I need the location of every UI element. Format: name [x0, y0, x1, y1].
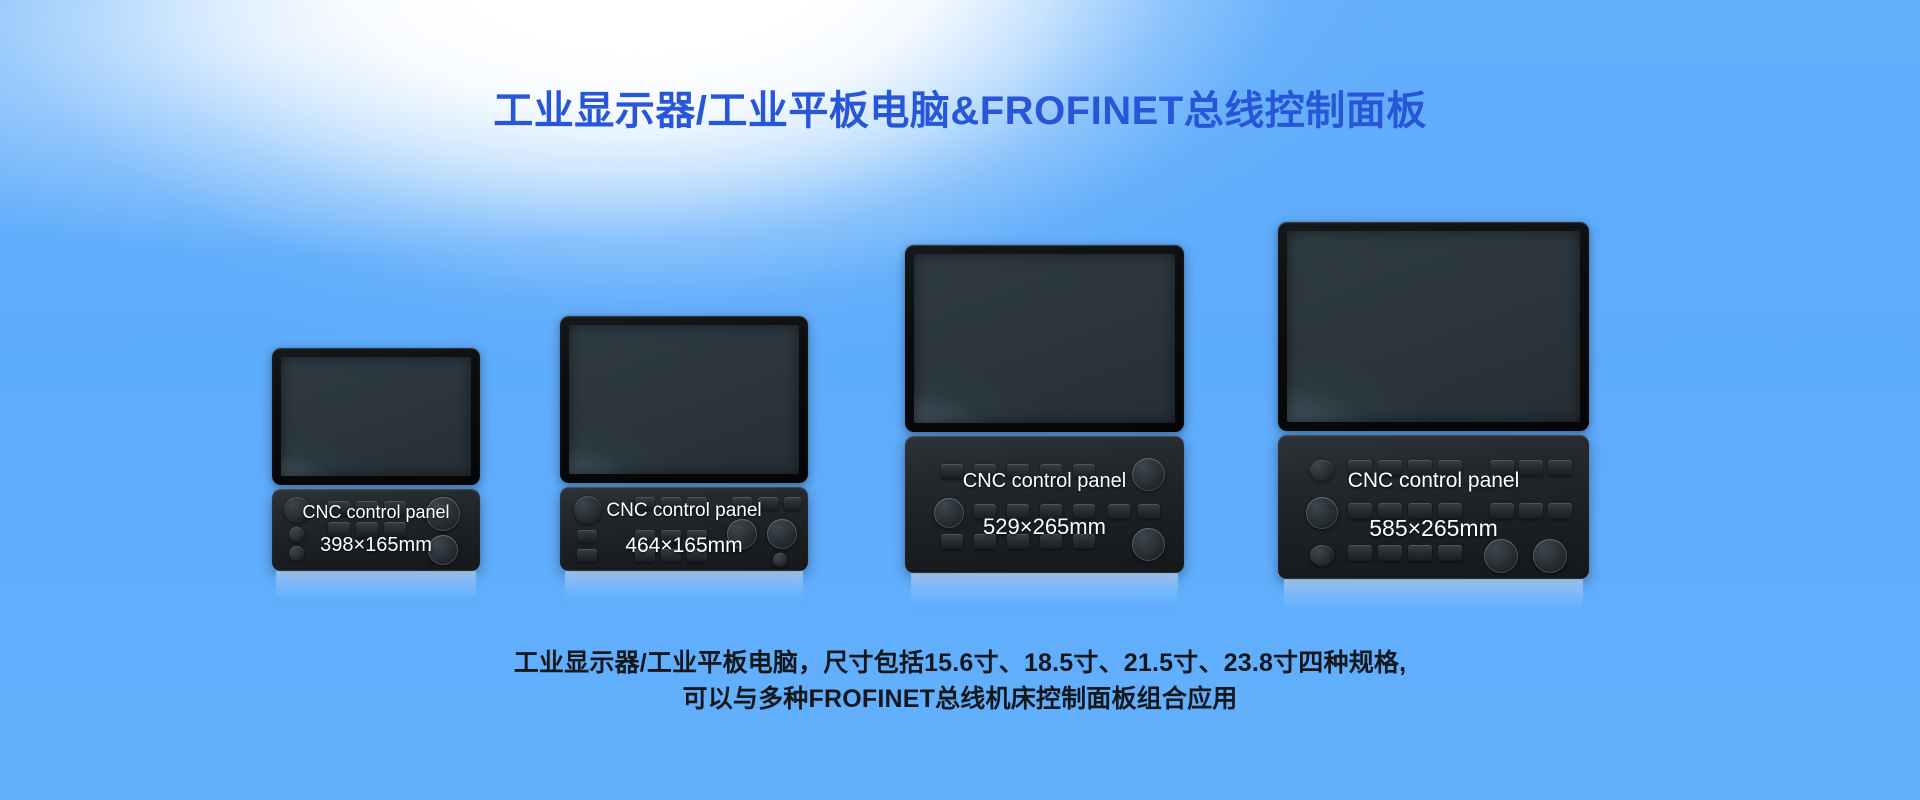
caption-line-1: 工业显示器/工业平板电脑，尺寸包括15.6寸、18.5寸、21.5寸、23.8寸… — [0, 645, 1920, 681]
product-unit-2[interactable]: CNC control panel 464×165mm — [560, 316, 808, 571]
panel-label-3: CNC control panel — [905, 470, 1184, 493]
monitor-screen-2 — [569, 325, 799, 474]
button-grid-4-r3c2[interactable] — [1378, 545, 1402, 561]
monitor-bezel-3 — [905, 245, 1184, 432]
reflection-3 — [911, 573, 1179, 611]
panel-size-2: 464×165mm — [560, 534, 808, 558]
panel-size-1: 398×165mm — [272, 534, 480, 557]
knob-right-bottom-1-4[interactable] — [1484, 539, 1518, 573]
button-grid-4-r3c3[interactable] — [1408, 545, 1432, 561]
panel-label-1: CNC control panel — [272, 502, 480, 523]
panel-size-3: 529×265mm — [905, 514, 1184, 540]
caption-line-2: 可以与多种FROFINET总线机床控制面板组合应用 — [0, 681, 1920, 717]
panel-size-4: 585×265mm — [1278, 515, 1589, 542]
button-grid-4-r3c4[interactable] — [1438, 545, 1462, 561]
monitor-screen-4 — [1287, 231, 1580, 422]
control-panel-4[interactable]: CNC control panel 585×265mm — [1278, 435, 1589, 579]
monitor-bezel-1 — [272, 348, 480, 485]
page-title: 工业显示器/工业平板电脑&FROFINET总线控制面板 — [0, 78, 1920, 136]
monitor-bezel-4 — [1278, 222, 1589, 431]
reflection-4 — [1284, 579, 1583, 617]
monitor-screen-3 — [914, 254, 1175, 423]
product-unit-3[interactable]: CNC control panel 529×265mm — [905, 245, 1184, 573]
control-panel-2[interactable]: CNC control panel 464×165mm — [560, 487, 808, 571]
control-panel-1[interactable]: CNC control panel 398×165mm — [272, 489, 480, 571]
control-panel-3[interactable]: CNC control panel 529×265mm — [905, 436, 1184, 573]
product-unit-4[interactable]: CNC control panel 585×265mm — [1278, 222, 1589, 579]
button-grid-4-r3c1[interactable] — [1348, 545, 1372, 561]
knob-right-bottom-2-4[interactable] — [1533, 539, 1567, 573]
knob-left-bottom-4[interactable] — [1310, 545, 1334, 566]
caption-block: 工业显示器/工业平板电脑，尺寸包括15.6寸、18.5寸、21.5寸、23.8寸… — [0, 645, 1920, 717]
panel-label-4: CNC control panel — [1278, 469, 1589, 493]
product-unit-1[interactable]: CNC control panel 398×165mm — [272, 348, 480, 571]
monitor-bezel-2 — [560, 316, 808, 483]
reflection-1 — [276, 571, 476, 605]
panel-label-2: CNC control panel — [560, 500, 808, 522]
reflection-2 — [565, 571, 803, 607]
monitor-screen-1 — [281, 357, 471, 476]
